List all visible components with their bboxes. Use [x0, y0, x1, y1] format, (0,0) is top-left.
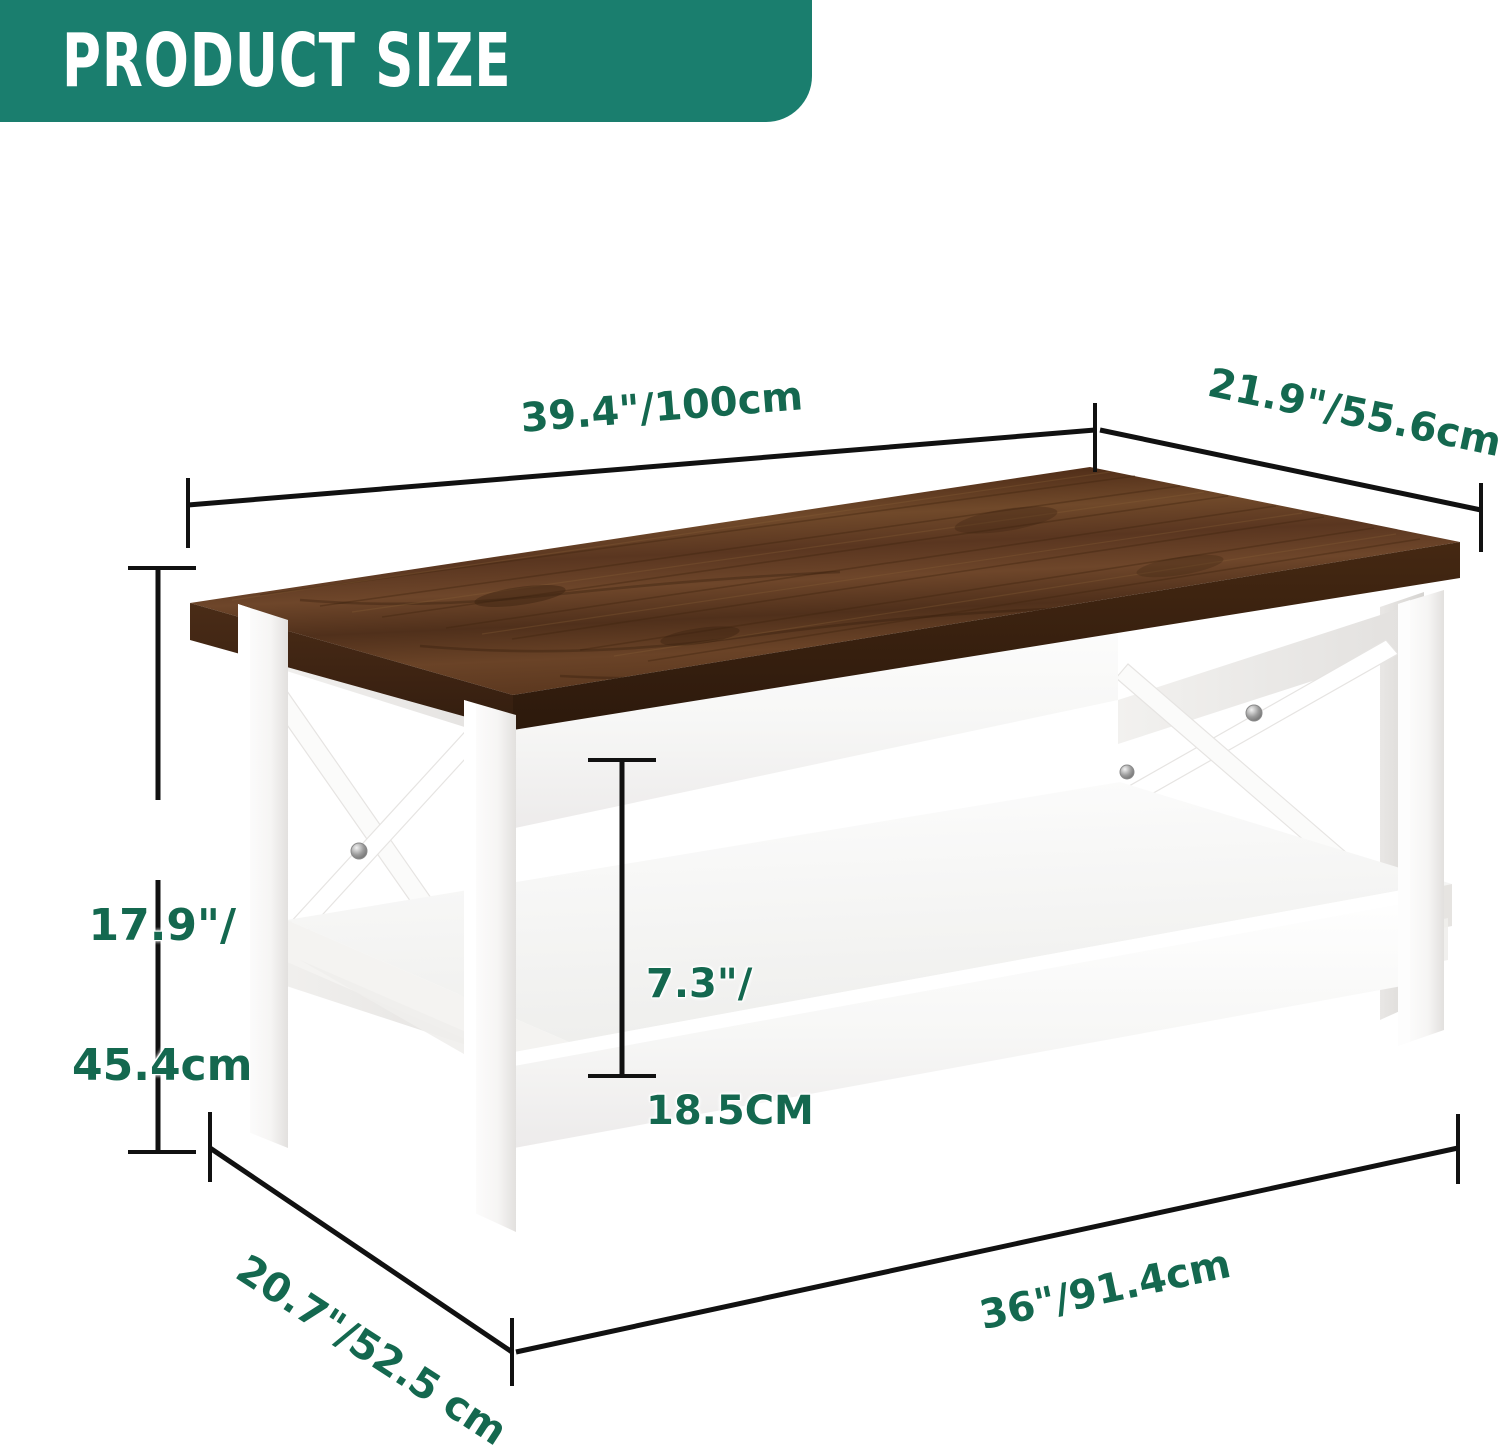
shelf-clearance-line1: 7.3"/: [646, 963, 814, 1005]
dimension-label-shelf-clearance: 7.3"/ 18.5CM: [646, 878, 814, 1175]
dimension-label-overall-height: 17.9"/ 45.4cm: [72, 810, 253, 1136]
overall-height-line2: 45.4cm: [72, 1043, 253, 1090]
shelf-clearance-line2: 18.5CM: [646, 1090, 814, 1132]
overall-height-line1: 17.9"/: [72, 903, 253, 950]
